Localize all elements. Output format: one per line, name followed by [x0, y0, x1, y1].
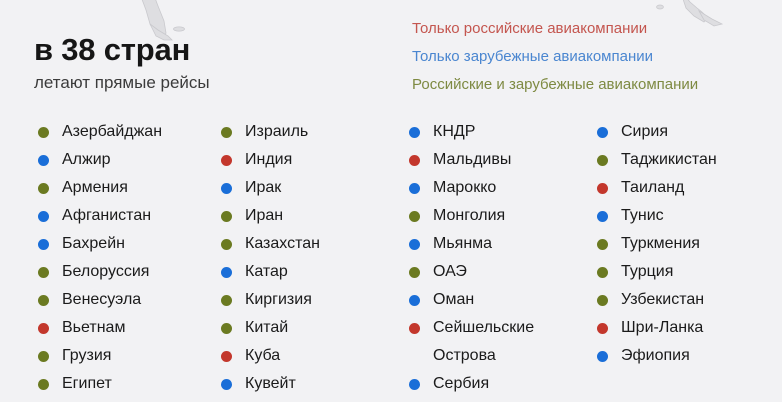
- country-item: Сирия: [597, 118, 782, 146]
- country-name: Эфиопия: [621, 342, 690, 370]
- airline-type-dot-olive: [38, 379, 49, 390]
- country-name: Таиланд: [621, 174, 684, 202]
- country-item: Белоруссия: [38, 258, 218, 286]
- country-name: Киргизия: [245, 286, 312, 314]
- country-item: Куба: [221, 342, 401, 370]
- airline-type-dot-olive: [597, 295, 608, 306]
- country-item: Мальдивы: [409, 146, 594, 174]
- country-item: Китай: [221, 314, 401, 342]
- page-title: в 38 стран: [34, 34, 374, 67]
- airline-type-dot-olive: [597, 239, 608, 250]
- country-item: Израиль: [221, 118, 401, 146]
- airline-type-dot-blue: [597, 127, 608, 138]
- country-name: Казахстан: [245, 230, 320, 258]
- airline-type-dot-blue: [409, 239, 420, 250]
- country-name: Острова: [433, 342, 496, 370]
- airline-type-dot-olive: [38, 267, 49, 278]
- country-name: Китай: [245, 314, 288, 342]
- airline-type-dot-olive: [221, 239, 232, 250]
- airline-type-dot-red: [221, 351, 232, 362]
- airline-type-dot-olive: [597, 155, 608, 166]
- country-name: Кувейт: [245, 370, 296, 398]
- country-item: Тунис: [597, 202, 782, 230]
- airline-type-dot-olive: [597, 267, 608, 278]
- country-item: Бахрейн: [38, 230, 218, 258]
- country-column-2: ИзраильИндияИракИранКазахстанКатарКиргиз…: [221, 118, 401, 398]
- country-name: Сирия: [621, 118, 668, 146]
- country-item: Мьянма: [409, 230, 594, 258]
- country-item: Оман: [409, 286, 594, 314]
- country-name: Египет: [62, 370, 112, 398]
- airline-type-dot-olive: [38, 295, 49, 306]
- country-name: Турция: [621, 258, 673, 286]
- country-column-4: СирияТаджикистанТаиландТунисТуркменияТур…: [597, 118, 782, 370]
- country-item: Турция: [597, 258, 782, 286]
- country-name: Венесуэла: [62, 286, 141, 314]
- airline-type-dot-blue: [409, 127, 420, 138]
- country-item: Ирак: [221, 174, 401, 202]
- legend-item-both: Российские и зарубежные авиакомпании: [412, 71, 772, 99]
- country-item: Таиланд: [597, 174, 782, 202]
- airline-type-dot-blue: [38, 211, 49, 222]
- country-item: Монголия: [409, 202, 594, 230]
- country-name: Бахрейн: [62, 230, 125, 258]
- airline-type-dot-red: [409, 323, 420, 334]
- country-item: Иран: [221, 202, 401, 230]
- country-name: Туркмения: [621, 230, 700, 258]
- airline-type-dot-olive: [409, 211, 420, 222]
- country-name: Шри-Ланка: [621, 314, 703, 342]
- airline-type-dot-blue: [221, 267, 232, 278]
- airline-type-dot-red: [597, 323, 608, 334]
- airline-type-dot-blue: [221, 183, 232, 194]
- country-item: Алжир: [38, 146, 218, 174]
- country-name: Азербайджан: [62, 118, 162, 146]
- country-name: Катар: [245, 258, 288, 286]
- infographic-root: в 38 стран летают прямые рейсы Только ро…: [0, 0, 782, 402]
- legend-item-foreign-only: Только зарубежные авиакомпании: [412, 43, 772, 71]
- airline-type-dot-olive: [221, 211, 232, 222]
- country-item: Кувейт: [221, 370, 401, 398]
- country-name: Мальдивы: [433, 146, 511, 174]
- country-name: Грузия: [62, 342, 111, 370]
- country-item: Катар: [221, 258, 401, 286]
- airline-type-dot-olive: [221, 295, 232, 306]
- airline-type-dot-red: [409, 155, 420, 166]
- country-item: Марокко: [409, 174, 594, 202]
- airline-type-dot-blue: [597, 211, 608, 222]
- country-item: ОАЭ: [409, 258, 594, 286]
- country-item: Казахстан: [221, 230, 401, 258]
- headline-block: в 38 стран летают прямые рейсы: [34, 34, 374, 93]
- legend-item-russian-only: Только российские авиакомпании: [412, 15, 772, 43]
- country-name: Израиль: [245, 118, 308, 146]
- country-name: Узбекистан: [621, 286, 704, 314]
- airline-type-dot-blue: [38, 239, 49, 250]
- country-name: Куба: [245, 342, 280, 370]
- airline-type-dot-blue: [597, 351, 608, 362]
- airline-type-dot-red: [38, 323, 49, 334]
- country-name: Марокко: [433, 174, 496, 202]
- airline-type-dot-red: [597, 183, 608, 194]
- airline-type-dot-olive: [221, 323, 232, 334]
- airline-type-dot-olive: [38, 183, 49, 194]
- country-name: Монголия: [433, 202, 505, 230]
- legend: Только российские авиакомпании Только за…: [412, 15, 772, 99]
- country-item: Острова: [409, 342, 594, 370]
- country-item: Азербайджан: [38, 118, 218, 146]
- country-item: Туркмения: [597, 230, 782, 258]
- country-item: Шри-Ланка: [597, 314, 782, 342]
- airline-type-dot-olive: [221, 127, 232, 138]
- airline-type-dot-blue: [409, 295, 420, 306]
- country-name: Ирак: [245, 174, 281, 202]
- country-name: Вьетнам: [62, 314, 125, 342]
- country-name: Афганистан: [62, 202, 151, 230]
- country-name: ОАЭ: [433, 258, 467, 286]
- country-item: Грузия: [38, 342, 218, 370]
- country-name: Таджикистан: [621, 146, 717, 174]
- country-column-3: КНДРМальдивыМароккоМонголияМьянмаОАЭОман…: [409, 118, 594, 398]
- country-item: Таджикистан: [597, 146, 782, 174]
- country-item: Афганистан: [38, 202, 218, 230]
- airline-type-dot-none: [409, 351, 420, 362]
- country-column-1: АзербайджанАлжирАрменияАфганистанБахрейн…: [38, 118, 218, 398]
- country-item: Индия: [221, 146, 401, 174]
- country-name: Сейшельские: [433, 314, 534, 342]
- airline-type-dot-red: [221, 155, 232, 166]
- airline-type-dot-blue: [409, 183, 420, 194]
- country-columns: АзербайджанАлжирАрменияАфганистанБахрейн…: [0, 118, 782, 388]
- country-name: Мьянма: [433, 230, 492, 258]
- airline-type-dot-olive: [38, 351, 49, 362]
- country-name: Белоруссия: [62, 258, 149, 286]
- country-item: Эфиопия: [597, 342, 782, 370]
- country-item: Сербия: [409, 370, 594, 398]
- airline-type-dot-olive: [38, 127, 49, 138]
- country-item: Армения: [38, 174, 218, 202]
- country-name: Алжир: [62, 146, 111, 174]
- country-item: Египет: [38, 370, 218, 398]
- country-item: Вьетнам: [38, 314, 218, 342]
- airline-type-dot-olive: [409, 267, 420, 278]
- airline-type-dot-blue: [221, 379, 232, 390]
- page-subtitle: летают прямые рейсы: [34, 73, 374, 93]
- country-name: Армения: [62, 174, 128, 202]
- country-item: Узбекистан: [597, 286, 782, 314]
- country-item: Киргизия: [221, 286, 401, 314]
- country-item: Сейшельские: [409, 314, 594, 342]
- country-item: Венесуэла: [38, 286, 218, 314]
- country-name: КНДР: [433, 118, 475, 146]
- country-name: Тунис: [621, 202, 664, 230]
- airline-type-dot-blue: [409, 379, 420, 390]
- country-name: Оман: [433, 286, 474, 314]
- airline-type-dot-blue: [38, 155, 49, 166]
- country-name: Индия: [245, 146, 292, 174]
- country-name: Иран: [245, 202, 283, 230]
- country-name: Сербия: [433, 370, 489, 398]
- country-item: КНДР: [409, 118, 594, 146]
